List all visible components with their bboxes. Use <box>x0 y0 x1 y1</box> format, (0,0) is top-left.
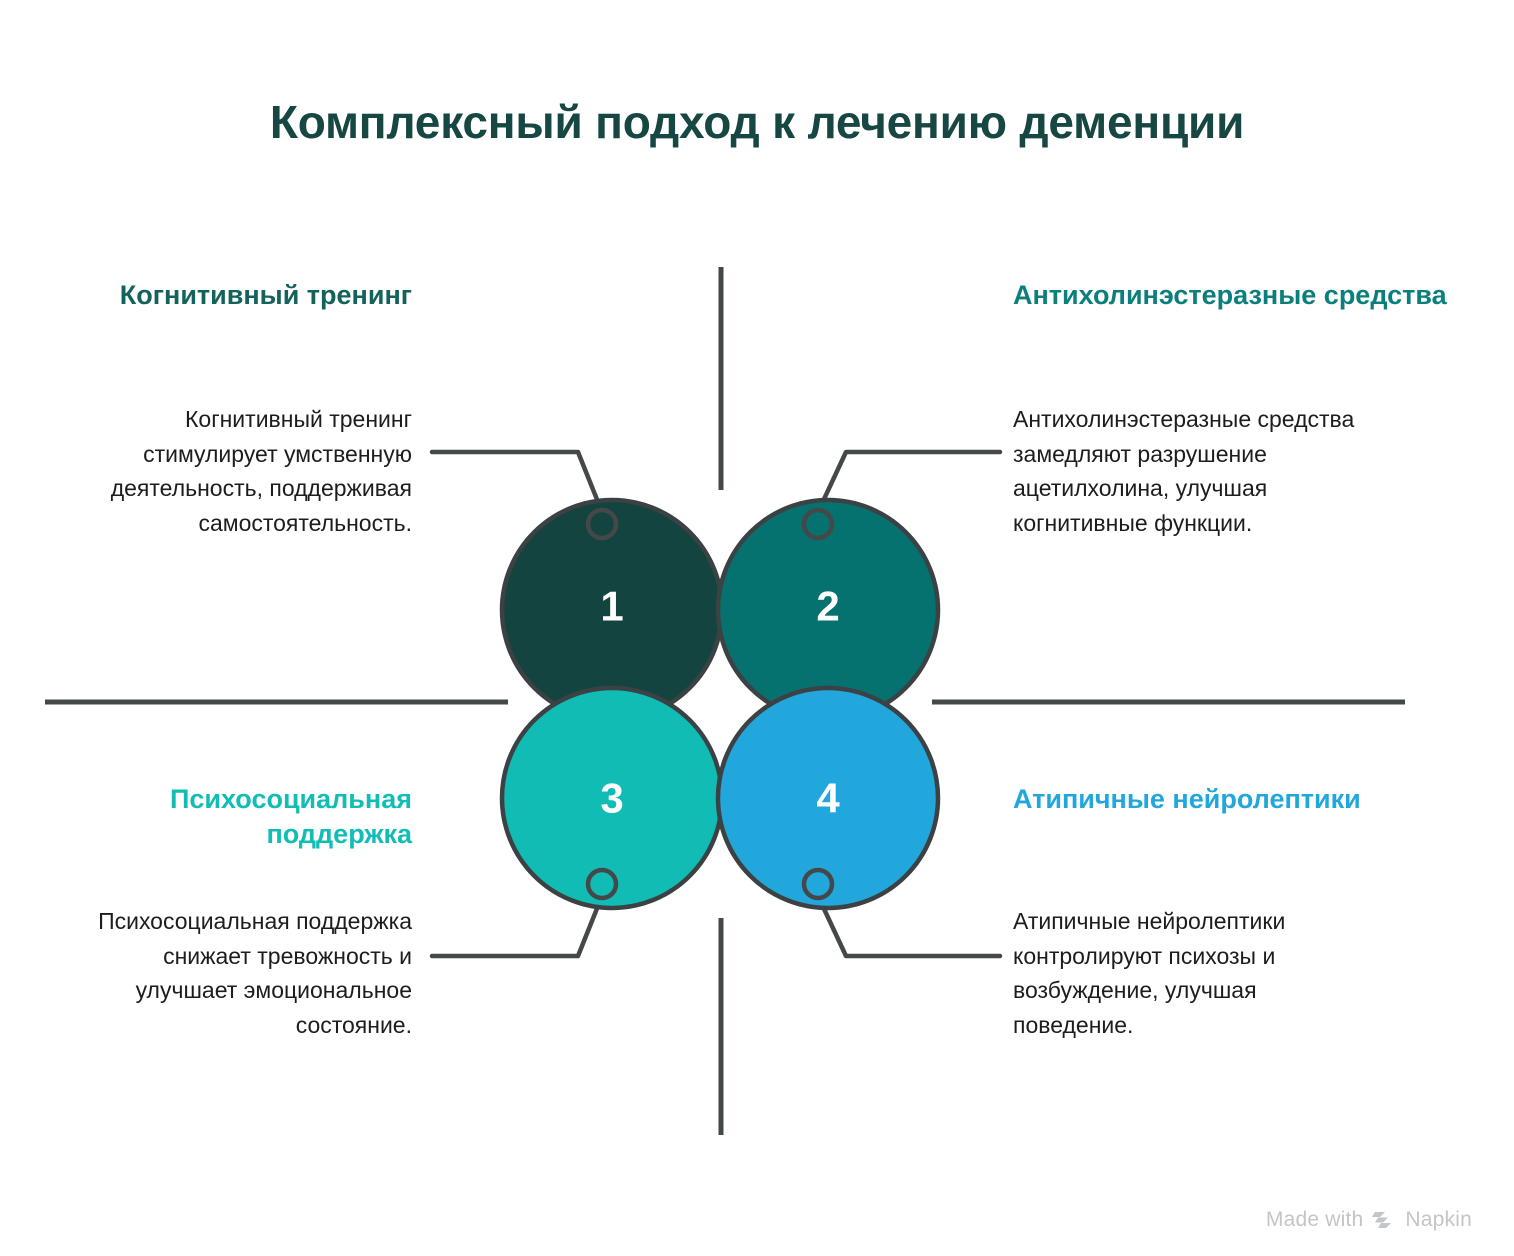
quadrant-body-2: Антихолинэстеразные средства замедляют р… <box>1013 402 1365 540</box>
connector-line-1 <box>432 452 602 512</box>
quadrant-heading-3: Психосоциальная поддержка <box>60 782 412 851</box>
connector-group <box>432 452 1000 956</box>
bubble-number-1: 1 <box>600 583 623 630</box>
connector-line-3 <box>432 896 602 956</box>
quadrant-body-4: Атипичные нейролептики контролируют псих… <box>1013 904 1365 1042</box>
quadrant-heading-1: Когнитивный тренинг <box>60 278 412 313</box>
watermark-prefix: Made with <box>1266 1208 1364 1232</box>
venn-bubble-diagram: 1 2 3 4 <box>0 0 1514 1256</box>
napkin-watermark: Made with Napkin <box>1266 1208 1472 1232</box>
quadrant-heading-4: Атипичные нейролептики <box>1013 782 1453 817</box>
napkin-logo-icon <box>1372 1209 1396 1231</box>
bubble-number-4: 4 <box>816 775 840 822</box>
watermark-brand: Napkin <box>1405 1208 1472 1232</box>
bubbles <box>502 500 938 908</box>
quadrant-heading-2: Антихолинэстеразные средства <box>1013 278 1453 313</box>
quadrant-body-3: Психосоциальная поддержка снижает тревож… <box>80 904 412 1042</box>
bubble-number-2: 2 <box>816 583 839 630</box>
bubble-number-3: 3 <box>600 775 623 822</box>
infographic-canvas: Комплексный подход к лечению деменции <box>0 0 1514 1256</box>
quadrant-body-1: Когнитивный тренинг стимулирует умственн… <box>80 402 412 540</box>
